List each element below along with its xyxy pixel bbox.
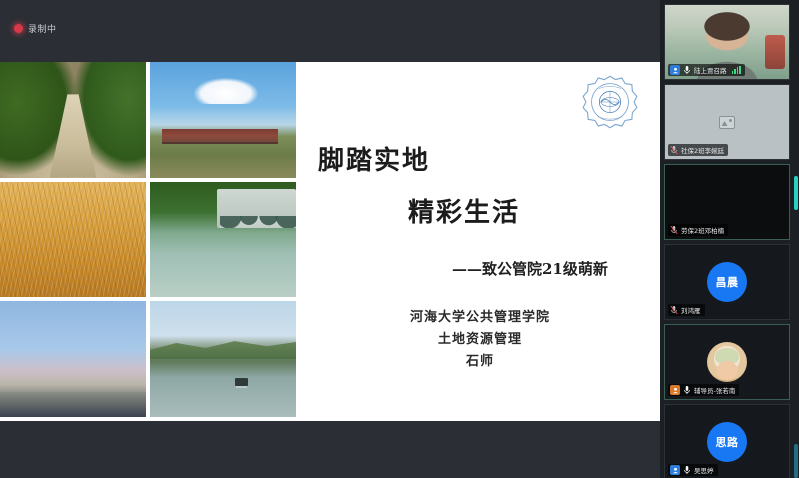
- mic-muted-icon: [670, 305, 678, 315]
- mic-muted-icon: [670, 225, 678, 235]
- photo-lake-sky: [0, 301, 146, 417]
- slide-text-area: 脚踏实地 精彩生活 ——致公管院21级萌新 河海大学公共管理学院 土地资源管理 …: [300, 62, 660, 421]
- participant-tile[interactable]: 辅导员-张若南: [664, 324, 790, 400]
- participant-name: 刘鸿雁: [681, 305, 701, 315]
- participant-rail[interactable]: 陆上贾召路 社保2班李婉廷 劳保2班邓柏楠: [660, 0, 799, 478]
- participant-name: 辅导员-张若南: [694, 385, 735, 395]
- participant-label: 劳保2班邓柏楠: [668, 224, 728, 236]
- avatar: 昌晨: [707, 262, 747, 302]
- mic-on-icon: [683, 385, 691, 395]
- participant-label: 社保2班李婉廷: [668, 144, 728, 156]
- shared-screen-stage[interactable]: 录制中: [0, 0, 660, 478]
- participant-label: 吴思婷: [668, 464, 718, 476]
- photo-collage: [0, 62, 300, 421]
- slide-credits: 河海大学公共管理学院 土地资源管理 石师: [300, 307, 660, 373]
- cohost-badge-icon: [670, 385, 680, 395]
- slide-title-line-2: 精彩生活: [408, 192, 520, 229]
- record-dot-icon: [14, 24, 23, 33]
- credit-line-institute: 河海大学公共管理学院: [300, 307, 660, 329]
- participant-name: 吴思婷: [694, 465, 714, 475]
- host-badge-icon: [670, 65, 680, 75]
- participant-tile[interactable]: 陆上贾召路: [664, 4, 790, 80]
- participant-tile[interactable]: 昌晨 刘鸿雁: [664, 244, 790, 320]
- photo-tree-lined-road: [0, 62, 146, 178]
- recording-label: 录制中: [28, 22, 57, 35]
- participant-tile[interactable]: 社保2班李婉廷: [664, 84, 790, 160]
- slide-title-line-1: 脚踏实地: [318, 140, 430, 177]
- photo-willow-bridge: [150, 182, 296, 298]
- participant-label: 刘鸿雁: [668, 304, 705, 316]
- image-placeholder-icon: [719, 116, 735, 129]
- participant-label: 辅导员-张若南: [668, 384, 739, 396]
- scrollbar-thumb-secondary[interactable]: [794, 444, 798, 478]
- avatar: 思路: [707, 422, 747, 462]
- scrollbar-thumb[interactable]: [794, 176, 798, 210]
- credit-line-major: 土地资源管理: [300, 329, 660, 351]
- recording-indicator: 录制中: [14, 22, 57, 35]
- slide-subtitle: ——致公管院21级萌新: [452, 258, 608, 279]
- mic-on-icon: [683, 465, 691, 475]
- signal-strength-icon: [732, 66, 741, 74]
- avatar: [707, 342, 747, 382]
- participant-name: 社保2班李婉廷: [681, 145, 724, 155]
- host-badge-icon: [670, 465, 680, 475]
- participant-name: 劳保2班邓柏楠: [681, 225, 724, 235]
- mic-on-icon: [683, 65, 691, 75]
- participant-rail-scrollbar[interactable]: [794, 0, 798, 478]
- participant-tile[interactable]: 思路 吴思婷: [664, 404, 790, 478]
- hohai-university-seal-icon: [582, 74, 638, 130]
- credit-line-presenter: 石师: [300, 351, 660, 373]
- mic-muted-icon: [670, 145, 678, 155]
- photo-river-hills: [150, 301, 296, 417]
- photo-wheat-field: [0, 182, 146, 298]
- participant-label: 陆上贾召路: [668, 64, 745, 76]
- photo-farm-blue-sky: [150, 62, 296, 178]
- presentation-slide: 脚踏实地 精彩生活 ——致公管院21级萌新 河海大学公共管理学院 土地资源管理 …: [0, 62, 660, 421]
- participant-name: 陆上贾召路: [694, 65, 727, 75]
- participant-tile[interactable]: 劳保2班邓柏楠: [664, 164, 790, 240]
- meeting-window: 录制中: [0, 0, 799, 478]
